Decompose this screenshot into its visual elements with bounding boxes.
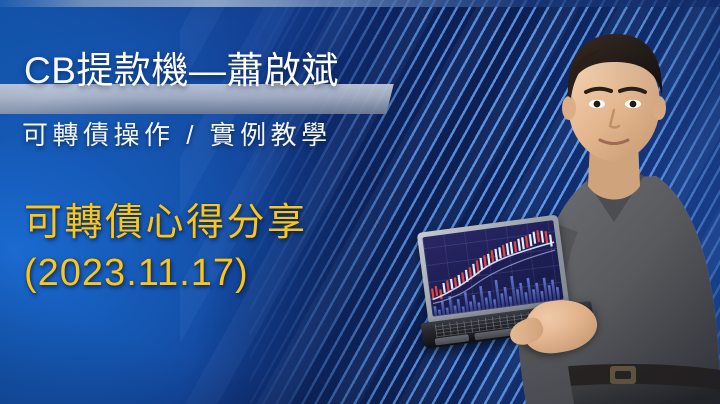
video-thumbnail: CB提款機—蕭啟斌 可轉債操作 / 實例教學 可轉債心得分享 (2023.11.… (0, 0, 720, 404)
vignette-overlay (0, 0, 720, 404)
